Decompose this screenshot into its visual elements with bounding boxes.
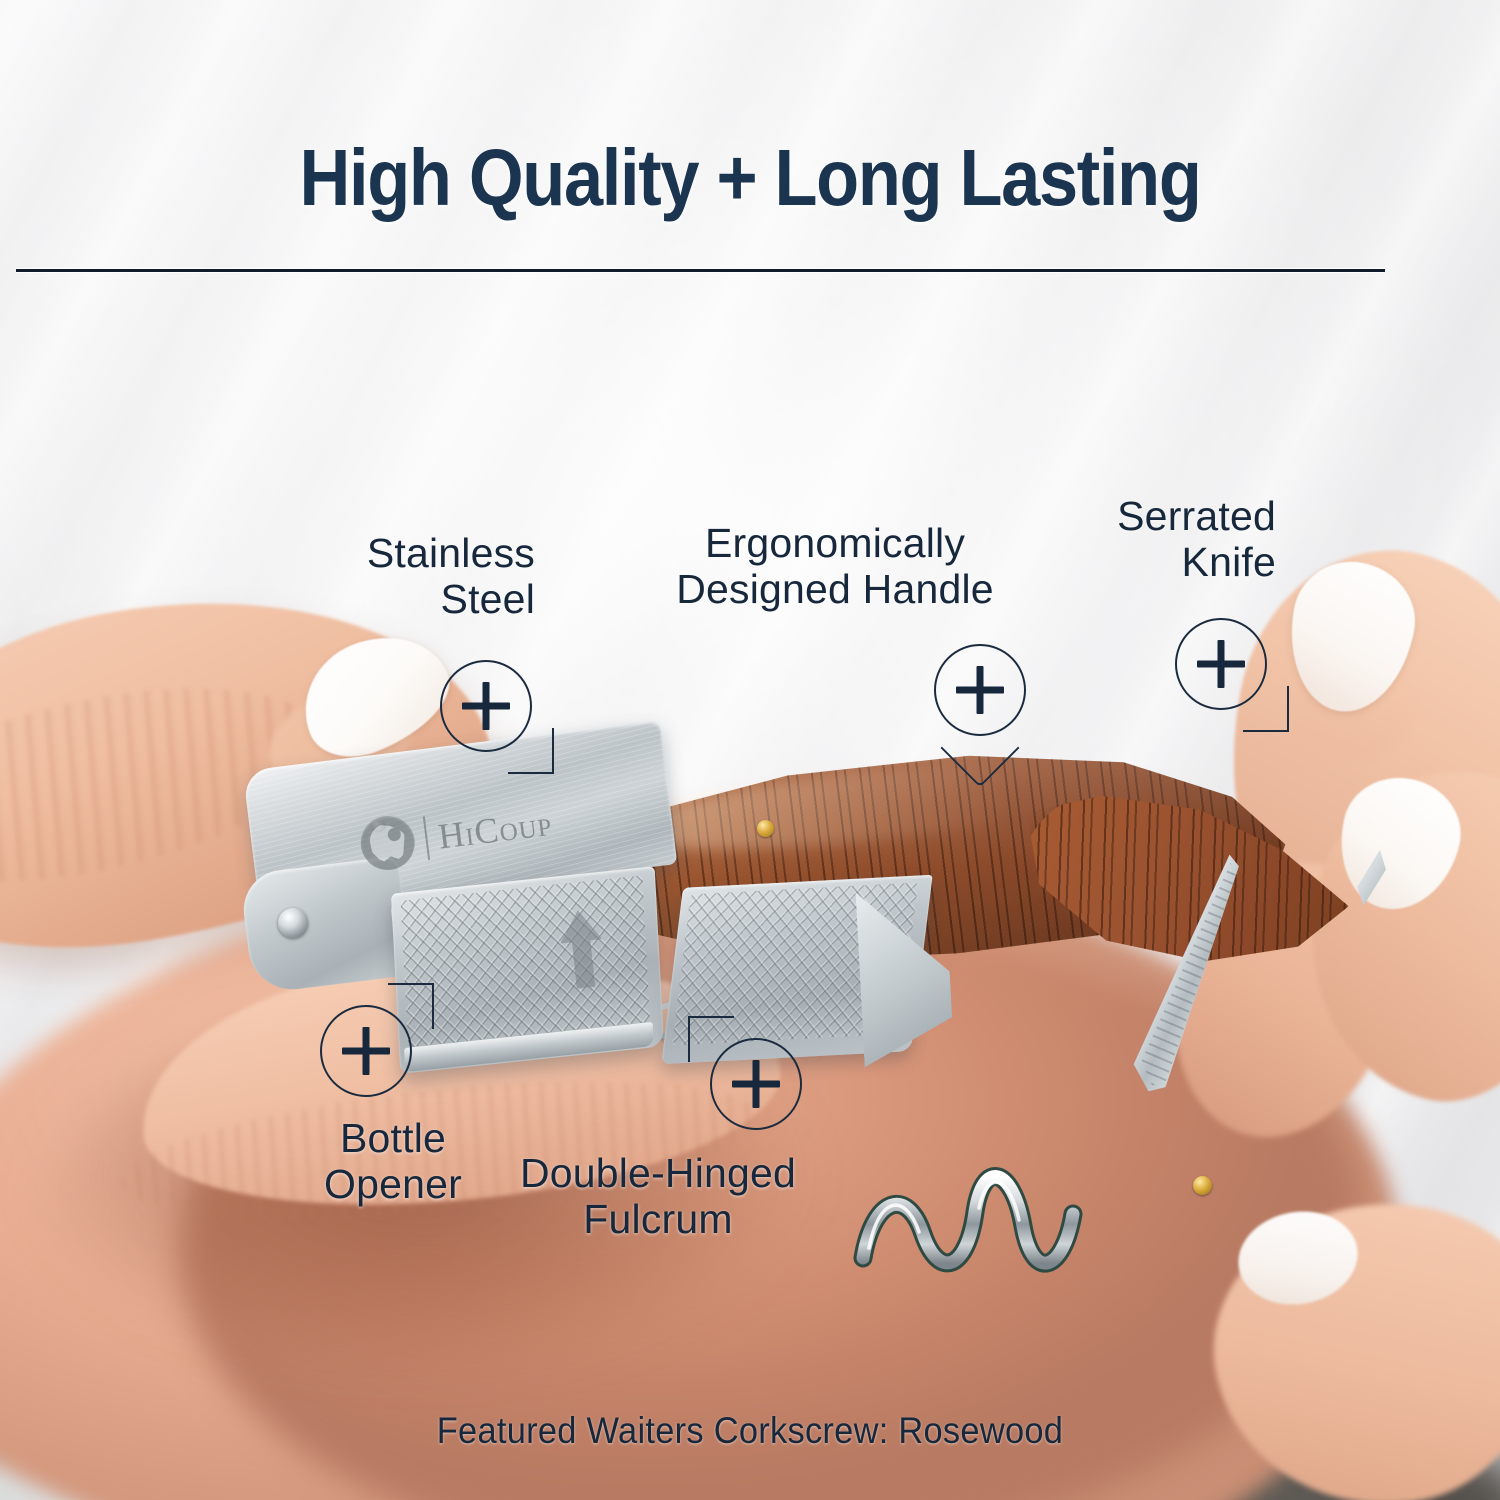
product-caption: Featured Waiters Corkscrew: Rosewood [53,1410,1448,1452]
marker-bottle-opener[interactable] [320,1005,412,1097]
callout-stainless-steel: Stainless Steel [250,530,535,623]
marker-stainless-steel[interactable] [440,660,532,752]
callout-ergonomic-handle: Ergonomically Designed Handle [640,520,1030,613]
marker-tail-bottom-right [1243,686,1289,732]
waiters-corkscrew: HiCoup [0,300,1500,1500]
steel-rivet [278,908,308,938]
steel-neck [239,856,412,995]
product-photo: HiCoup [0,300,1500,1500]
hicoup-wordmark: HiCoup [436,805,554,855]
brass-pin-front [757,820,774,837]
marker-tail-top-left [688,1016,734,1062]
marker-tail-top-right [388,983,434,1029]
callout-label-double-hinged-fulcrum: Double-Hinged Fulcrum [468,1150,848,1243]
marker-serrated-knife[interactable] [1175,618,1267,710]
callout-double-hinged-fulcrum: Double-Hinged Fulcrum [468,1038,848,1243]
corkscrew-helix [855,1162,1115,1282]
title-divider [16,268,1385,273]
marker-double-hinged-fulcrum[interactable] [710,1038,802,1130]
callout-label-ergonomic-handle: Ergonomically Designed Handle [640,520,1030,613]
page-title: High Quality + Long Lasting [90,138,1410,218]
brass-pin-rear [1193,1176,1212,1195]
hicoup-emblem-icon [358,813,418,873]
knife-blade-tip [1348,846,1392,909]
callout-label-serrated-knife: Serrated Knife [1020,493,1276,586]
callout-label-stainless-steel: Stainless Steel [250,530,535,623]
product-infographic: High Quality + Long Lasting [0,0,1500,1500]
logo-divider [423,816,430,860]
marker-ergonomic-handle[interactable] [934,644,1026,736]
callout-serrated-knife: Serrated Knife [1020,493,1276,586]
marker-tail-bottom-right [508,728,554,774]
